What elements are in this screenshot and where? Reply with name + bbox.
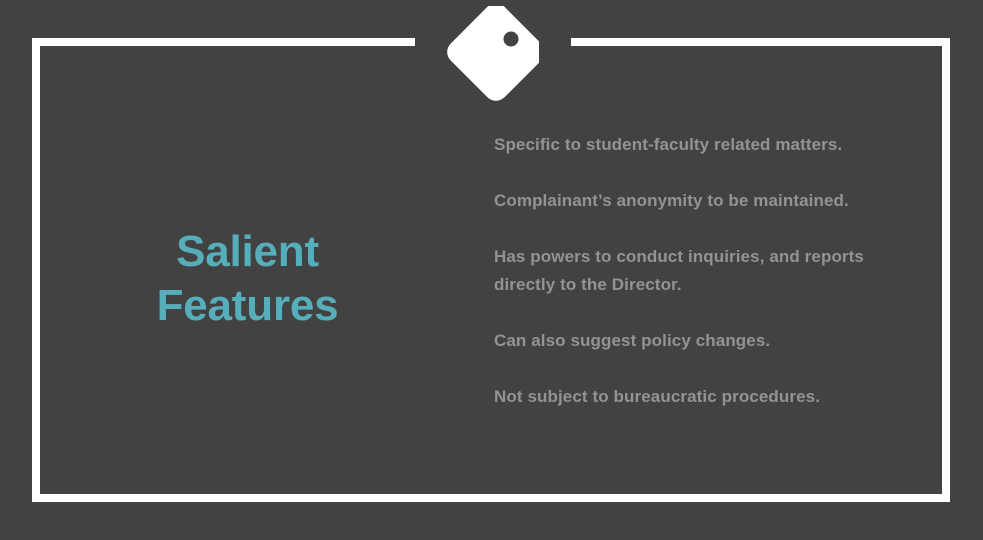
list-item: Has powers to conduct inquiries, and rep… (494, 243, 926, 299)
list-item: Complainant’s anonymity to be maintained… (494, 187, 926, 215)
frame-border-top-left-segment (32, 38, 415, 46)
list-item: Not subject to bureaucratic procedures. (494, 383, 926, 411)
frame-border-top-right-segment (571, 38, 950, 46)
page-title-line-2: Features (40, 279, 455, 333)
page-title-line-1: Salient (40, 225, 455, 279)
list-item: Can also suggest policy changes. (494, 327, 926, 355)
list-item: Specific to student-faculty related matt… (494, 131, 926, 159)
page-title: Salient Features (40, 225, 455, 333)
price-tag-icon (443, 6, 539, 108)
frame-border-right (942, 38, 950, 502)
frame-border-bottom (32, 494, 950, 502)
presentation-slide: Salient Features Specific to student-fac… (0, 0, 983, 540)
feature-list: Specific to student-faculty related matt… (494, 131, 926, 411)
frame-border-left (32, 38, 40, 502)
